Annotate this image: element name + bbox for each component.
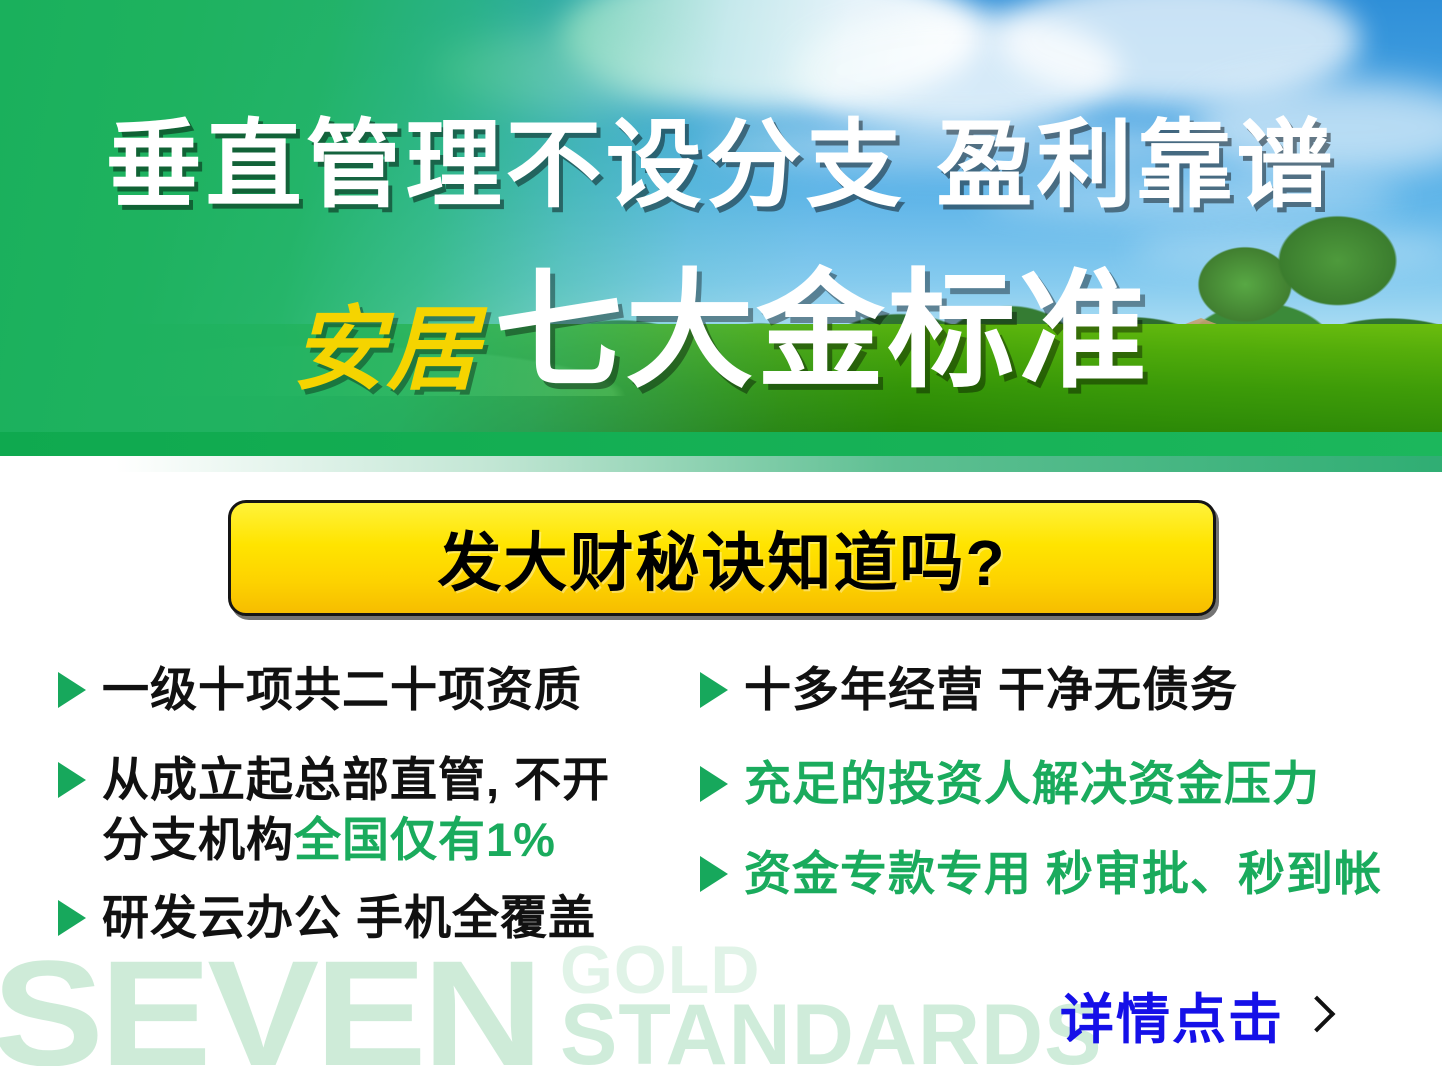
highlight-banner[interactable]: 发大财秘诀知道吗? bbox=[228, 500, 1216, 616]
details-cta-link[interactable]: 详情点击 bbox=[1060, 975, 1324, 1054]
play-triangle-icon bbox=[700, 766, 728, 802]
list-item-label: 资金专款专用 秒审批、秒到帐 bbox=[744, 844, 1382, 904]
play-triangle-icon bbox=[700, 672, 728, 708]
play-triangle-icon bbox=[58, 900, 86, 936]
list-item-label: 一级十项共二十项资质 bbox=[102, 660, 582, 720]
list-item-label-multiline: 从成立起总部直管, 不开 分支机构全国仅有1% bbox=[102, 750, 610, 870]
list-item: 从成立起总部直管, 不开 分支机构全国仅有1% bbox=[58, 750, 698, 870]
features-section: 一级十项共二十项资质 从成立起总部直管, 不开 分支机构全国仅有1% 研发云办公… bbox=[0, 660, 1442, 1000]
hero-subline: 安居七大金标准 bbox=[0, 268, 1442, 396]
hero-headline: 垂直管理不设分支 盈利靠谱 bbox=[0, 118, 1442, 214]
features-right-column: 十多年经营 干净无债务 充足的投资人解决资金压力 资金专款专用 秒审批、秒到帐 bbox=[700, 660, 1400, 926]
list-item-line1: 从成立起总部直管, 不开 bbox=[102, 753, 610, 806]
promo-page: 垂直管理不设分支 盈利靠谱 安居七大金标准 发大财秘诀知道吗? SEVEN GO… bbox=[0, 0, 1442, 1066]
highlight-banner-text: 发大财秘诀知道吗? bbox=[437, 512, 1006, 604]
play-triangle-icon bbox=[58, 672, 86, 708]
hero-banner: 垂直管理不设分支 盈利靠谱 安居七大金标准 bbox=[0, 0, 1442, 456]
list-item-line2-plain: 分支机构 bbox=[102, 813, 294, 866]
banner-fade-strip bbox=[0, 456, 1442, 472]
list-item-label: 充足的投资人解决资金压力 bbox=[744, 754, 1320, 814]
list-item-line2-highlight: 全国仅有1% bbox=[294, 813, 556, 866]
watermark-standards: STANDARDS bbox=[560, 992, 1103, 1066]
list-item: 充足的投资人解决资金压力 bbox=[700, 754, 1400, 814]
list-item-label: 十多年经营 干净无债务 bbox=[744, 660, 1238, 720]
list-item-label: 研发云办公 手机全覆盖 bbox=[102, 888, 596, 948]
details-cta-label: 详情点击 bbox=[1060, 975, 1284, 1054]
list-item: 资金专款专用 秒审批、秒到帐 bbox=[700, 844, 1400, 904]
list-item: 一级十项共二十项资质 bbox=[58, 660, 698, 720]
hero-subtitle-text: 七大金标准 bbox=[495, 268, 1150, 396]
hero-brand-text: 安居 bbox=[292, 304, 480, 396]
play-triangle-icon bbox=[58, 762, 86, 798]
list-item: 研发云办公 手机全覆盖 bbox=[58, 888, 698, 948]
green-bottom-band bbox=[0, 432, 1442, 456]
chevron-right-icon bbox=[1302, 995, 1324, 1035]
list-item: 十多年经营 干净无债务 bbox=[700, 660, 1400, 720]
features-left-column: 一级十项共二十项资质 从成立起总部直管, 不开 分支机构全国仅有1% 研发云办公… bbox=[58, 660, 698, 971]
play-triangle-icon bbox=[700, 856, 728, 892]
